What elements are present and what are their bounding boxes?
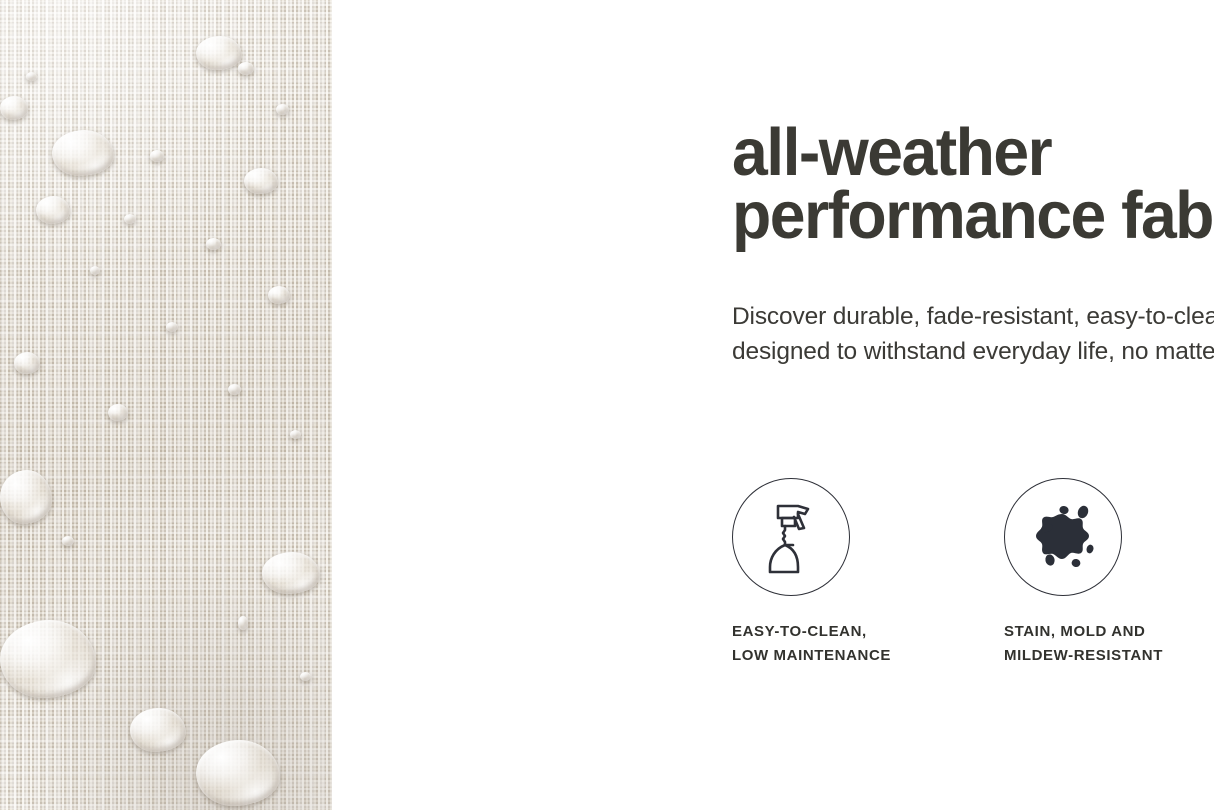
feature-item-easy-to-clean: EASY-TO-CLEAN, LOW MAINTENANCE <box>732 478 1004 669</box>
feature-item-stain-resistant: STAIN, MOLD AND MILDEW-RESISTANT <box>1004 478 1214 669</box>
water-droplet <box>130 708 186 752</box>
subcopy: Discover durable, fade-resistant, easy-t… <box>732 299 1214 369</box>
water-droplet <box>196 740 280 806</box>
fabric-photo <box>0 0 332 810</box>
water-droplet <box>300 672 311 681</box>
water-droplet <box>0 620 96 698</box>
water-droplet <box>268 286 290 304</box>
water-droplet <box>262 552 320 594</box>
water-droplet <box>206 238 221 250</box>
feature-label: EASY-TO-CLEAN, LOW MAINTENANCE <box>732 620 1004 669</box>
water-droplet <box>124 214 136 224</box>
water-droplet <box>36 196 70 224</box>
water-droplet <box>0 470 52 524</box>
water-droplet <box>26 72 37 81</box>
water-droplet <box>150 150 164 162</box>
water-droplet <box>14 352 40 374</box>
water-droplet <box>108 404 128 421</box>
feature-label: STAIN, MOLD AND MILDEW-RESISTANT <box>1004 620 1214 669</box>
all-weather-fabric-banner: all-weather performance fabric Discover … <box>0 0 1214 810</box>
water-droplet <box>228 384 241 395</box>
feature-list: EASY-TO-CLEAN, LOW MAINTENANCE STAIN, M <box>732 478 1214 669</box>
water-droplet <box>276 104 289 115</box>
water-droplet <box>166 322 178 332</box>
water-droplet <box>290 430 301 439</box>
stain-splat-icon <box>1004 478 1122 596</box>
spray-bottle-icon <box>732 478 850 596</box>
page-title: all-weather performance fabric <box>732 122 1214 248</box>
content-panel: all-weather performance fabric Discover … <box>332 0 1214 810</box>
water-droplet <box>0 96 28 120</box>
water-droplet <box>62 536 74 546</box>
water-droplet <box>244 168 278 194</box>
water-droplet <box>196 36 242 70</box>
water-droplet <box>238 62 254 75</box>
water-droplet <box>238 616 248 630</box>
subcopy-lead: Discover durable, fade-resistant, easy-t… <box>732 303 1214 330</box>
water-droplet <box>52 130 114 176</box>
water-droplet <box>90 266 100 275</box>
